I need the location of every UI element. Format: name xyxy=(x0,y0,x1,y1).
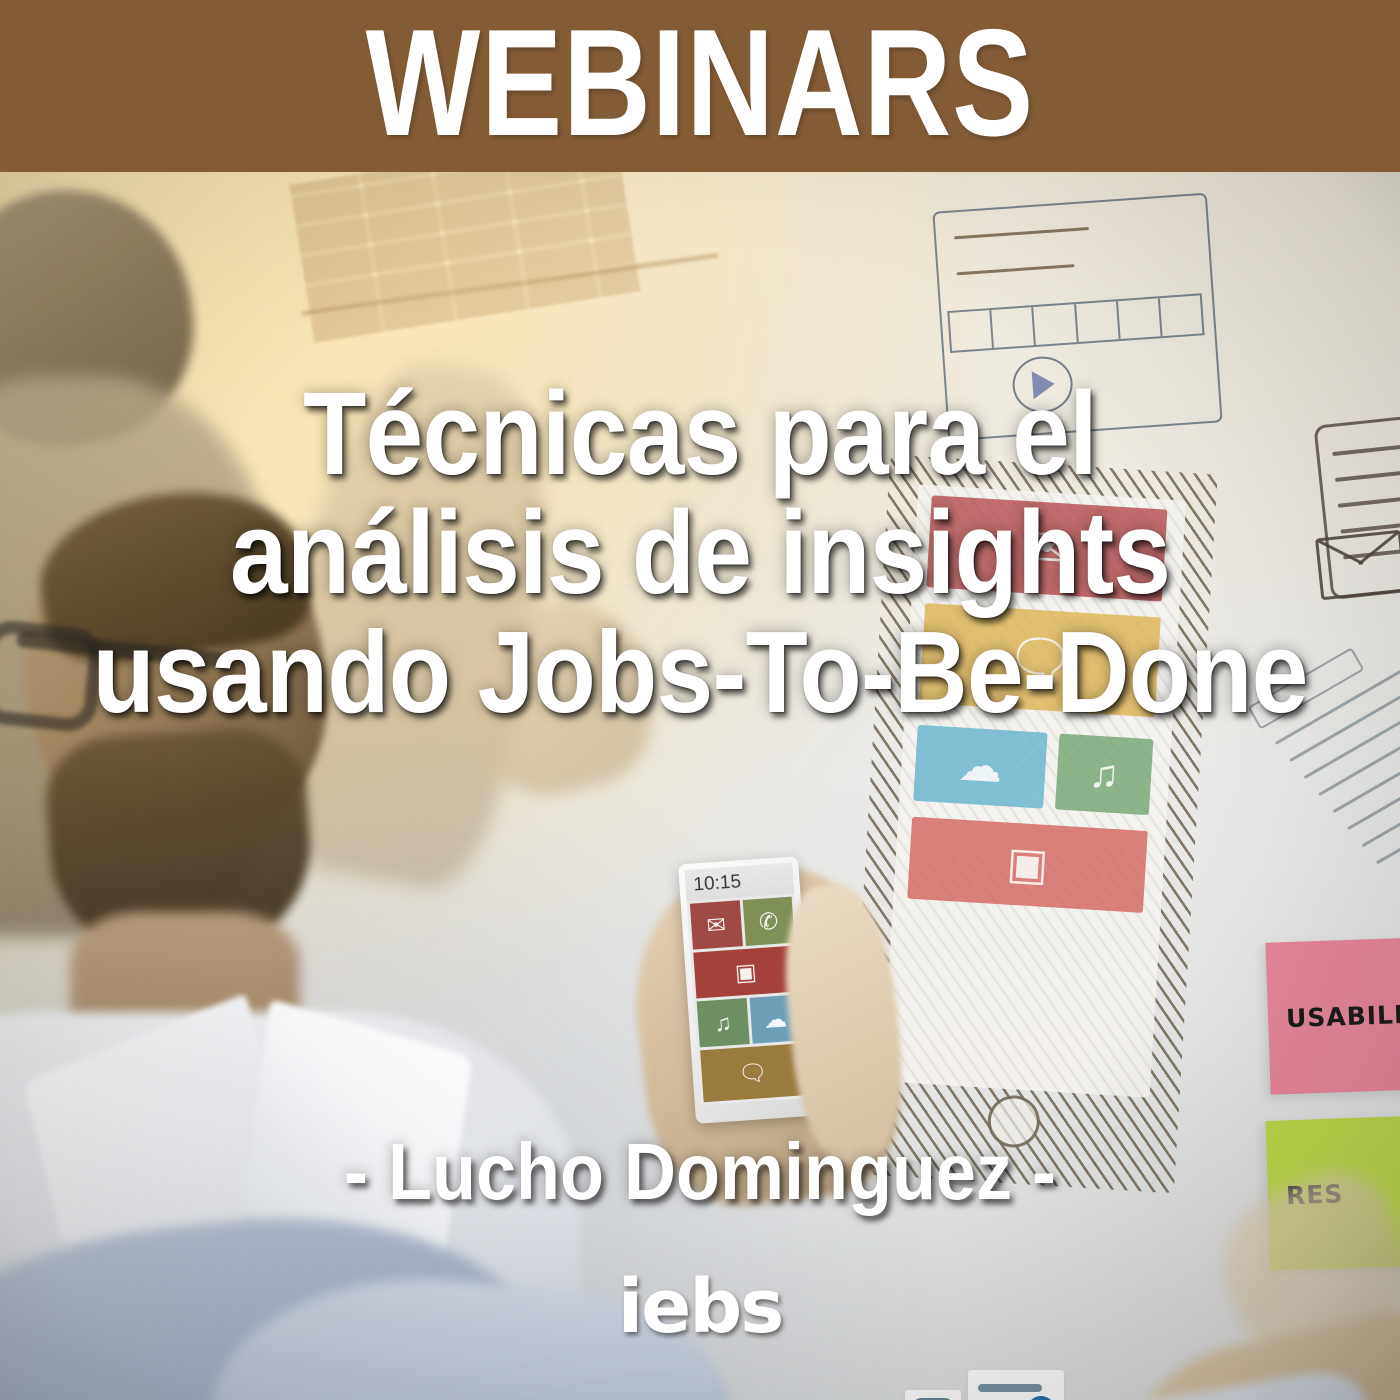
banner-title: WEBINARS xyxy=(366,7,1034,159)
webinars-banner: WEBINARS xyxy=(0,0,1400,172)
sticky-note-usability: USABILITY xyxy=(1265,937,1400,1094)
speaker-name: - Lucho Dominguez - xyxy=(70,1130,1330,1214)
sticky-note-label: USABILITY xyxy=(1286,998,1400,1032)
title-line-2: análisis de insights xyxy=(84,494,1316,613)
frame-tile-cloud: ☁ xyxy=(913,725,1047,809)
chat-icon: 🗨 xyxy=(737,1060,768,1085)
iebs-logo: iebs xyxy=(0,1268,1400,1346)
phone-icon: ✆ xyxy=(758,909,779,933)
phone-tile-mail: ✉ xyxy=(690,900,743,949)
webinar-promo-poster: WEBINARS xyxy=(0,0,1400,1400)
camera-icon: ▣ xyxy=(1005,842,1049,888)
camera-icon: ▣ xyxy=(734,960,757,984)
frame-tile-camera: ▣ xyxy=(907,817,1148,913)
phone-tile-camera: ▣ xyxy=(693,946,798,999)
phone-tile-phone: ✆ xyxy=(742,897,795,946)
mini-card-square xyxy=(905,1390,961,1400)
mail-icon: ✉ xyxy=(706,913,727,937)
title-line-3: usando Jobs-To-Be-Done xyxy=(84,613,1316,732)
mini-card-chart xyxy=(968,1370,1064,1400)
cloud-icon: ☁ xyxy=(957,743,1004,790)
iebs-logo-text: iebs xyxy=(618,1268,783,1346)
webinar-title: Técnicas para el análisis de insights us… xyxy=(0,375,1400,732)
chart-dot xyxy=(1026,1396,1056,1400)
cloud-icon: ☁ xyxy=(763,1007,788,1032)
headphones-icon: ♫ xyxy=(714,1011,733,1035)
frame-tile-headphones: ♫ xyxy=(1055,734,1153,816)
chart-title-bar xyxy=(978,1384,1042,1392)
headphones-icon: ♫ xyxy=(1088,753,1120,795)
phone-tile-headphones: ♫ xyxy=(697,998,750,1047)
phone-tile-chat: 🗨 xyxy=(700,1043,805,1102)
title-line-1: Técnicas para el xyxy=(84,375,1316,494)
